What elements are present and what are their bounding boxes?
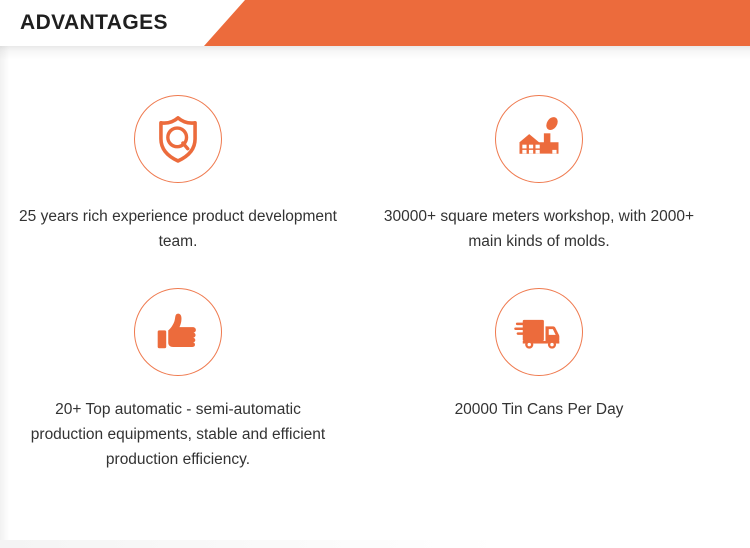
advantage-text: 30000+ square meters workshop, with 2000… <box>365 204 713 254</box>
advantage-item: 20000 Tin Cans Per Day <box>365 288 713 422</box>
advantage-text: 20+ Top automatic - semi-automatic produ… <box>4 397 352 472</box>
shield-quality-icon <box>134 95 222 183</box>
delivery-truck-icon <box>495 288 583 376</box>
page-header: ADVANTAGES <box>0 0 750 46</box>
advantages-page: ADVANTAGES 25 years rich experience prod… <box>0 0 750 548</box>
advantage-item: 20+ Top automatic - semi-automatic produ… <box>4 288 352 472</box>
page-title: ADVANTAGES <box>20 0 168 46</box>
advantages-grid: 25 years rich experience product develop… <box>0 60 750 530</box>
factory-icon <box>495 95 583 183</box>
bottom-edge-strip <box>0 540 500 548</box>
thumbs-up-icon <box>134 288 222 376</box>
header-drop-shadow <box>0 46 750 60</box>
advantage-item: 30000+ square meters workshop, with 2000… <box>365 95 713 254</box>
advantage-text: 20000 Tin Cans Per Day <box>365 397 713 422</box>
advantage-text: 25 years rich experience product develop… <box>4 204 352 254</box>
advantage-item: 25 years rich experience product develop… <box>4 95 352 254</box>
